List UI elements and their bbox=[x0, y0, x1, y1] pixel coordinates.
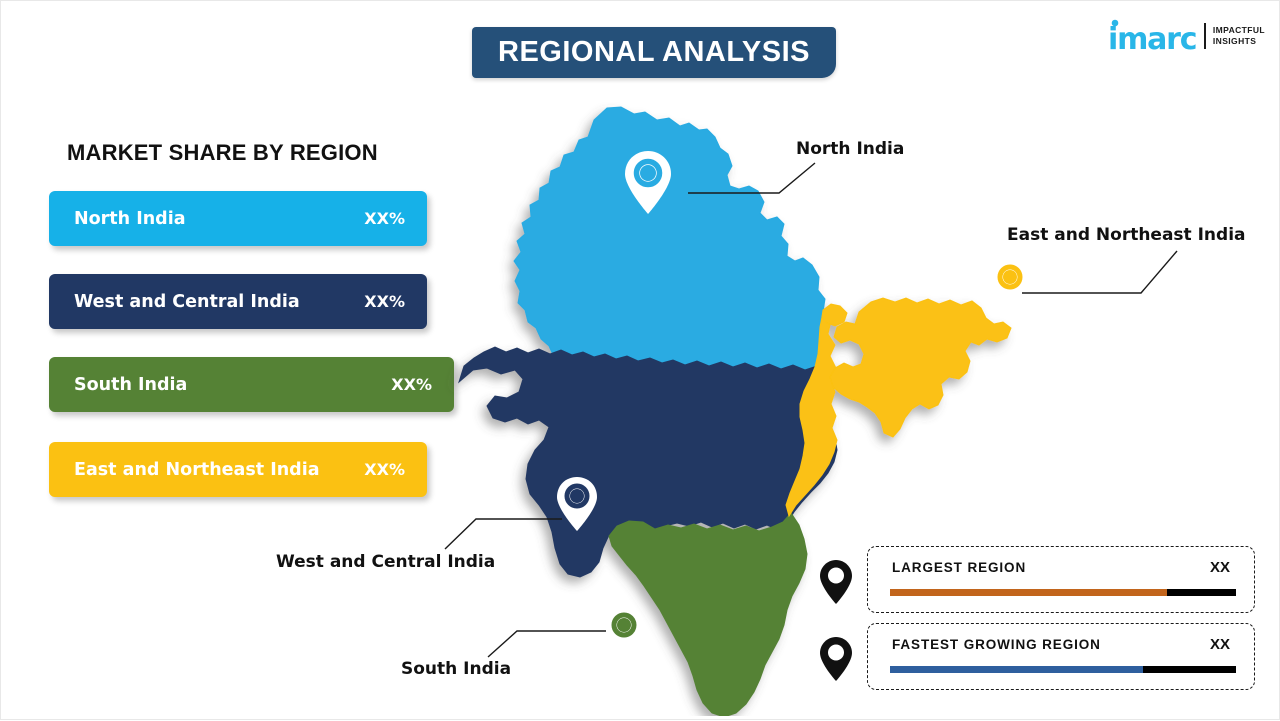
stat-value: XX bbox=[1210, 636, 1230, 653]
svg-text:imarc: imarc bbox=[1108, 22, 1196, 55]
map-pin-south-india[interactable] bbox=[604, 606, 644, 660]
legend-value: XX% bbox=[364, 460, 405, 479]
legend-value: XX% bbox=[391, 375, 432, 394]
callout-label-east-and-northeast-india: East and Northeast India bbox=[1007, 225, 1246, 245]
map-region-north-india[interactable] bbox=[514, 107, 835, 382]
legend-item-south-india[interactable]: South India XX% bbox=[49, 357, 454, 412]
legend-label: West and Central India bbox=[74, 292, 300, 312]
legend-item-east-and-northeast-india[interactable]: East and Northeast India XX% bbox=[49, 442, 427, 497]
largest-region-pin-icon bbox=[819, 559, 853, 605]
map-pin-east-and-northeast-india[interactable] bbox=[990, 258, 1030, 312]
stat-title: LARGEST REGION bbox=[892, 560, 1026, 575]
logo-divider bbox=[1204, 23, 1206, 49]
stat-value: XX bbox=[1210, 559, 1230, 576]
legend-label: East and Northeast India bbox=[74, 460, 320, 480]
logo-tagline: IMPACTFUL INSIGHTS bbox=[1213, 25, 1265, 48]
page-title: REGIONAL ANALYSIS bbox=[498, 36, 810, 69]
stat-progress-fill bbox=[890, 589, 1167, 596]
stat-card-fastest-growing-region[interactable]: FASTEST GROWING REGION XX bbox=[867, 623, 1255, 690]
page-title-banner: REGIONAL ANALYSIS bbox=[472, 27, 836, 78]
imarc-logo: imarc IMPACTFUL INSIGHTS bbox=[1108, 17, 1265, 55]
legend-label: South India bbox=[74, 375, 187, 395]
legend-label: North India bbox=[74, 209, 186, 229]
stat-progress-track bbox=[890, 666, 1236, 673]
callout-label-south-india: South India bbox=[401, 659, 511, 679]
fastest-growing-region-pin-icon bbox=[819, 636, 853, 682]
legend-value: XX% bbox=[364, 292, 405, 311]
imarc-wordmark-icon: imarc bbox=[1108, 17, 1200, 55]
callout-label-north-india: North India bbox=[796, 139, 904, 159]
map-region-northeast-india[interactable] bbox=[830, 298, 1011, 437]
stat-progress-fill bbox=[890, 666, 1143, 673]
market-share-heading: MARKET SHARE BY REGION bbox=[67, 140, 378, 166]
stat-progress-track bbox=[890, 589, 1236, 596]
legend-value: XX% bbox=[364, 209, 405, 228]
callout-label-west-and-central-india: West and Central India bbox=[276, 552, 495, 572]
stat-title: FASTEST GROWING REGION bbox=[892, 637, 1101, 652]
legend-item-north-india[interactable]: North India XX% bbox=[49, 191, 427, 246]
logo-tagline-line2: INSIGHTS bbox=[1213, 36, 1265, 47]
legend-item-west-and-central-india[interactable]: West and Central India XX% bbox=[49, 274, 427, 329]
logo-tagline-line1: IMPACTFUL bbox=[1213, 25, 1265, 36]
stat-card-largest-region[interactable]: LARGEST REGION XX bbox=[867, 546, 1255, 613]
